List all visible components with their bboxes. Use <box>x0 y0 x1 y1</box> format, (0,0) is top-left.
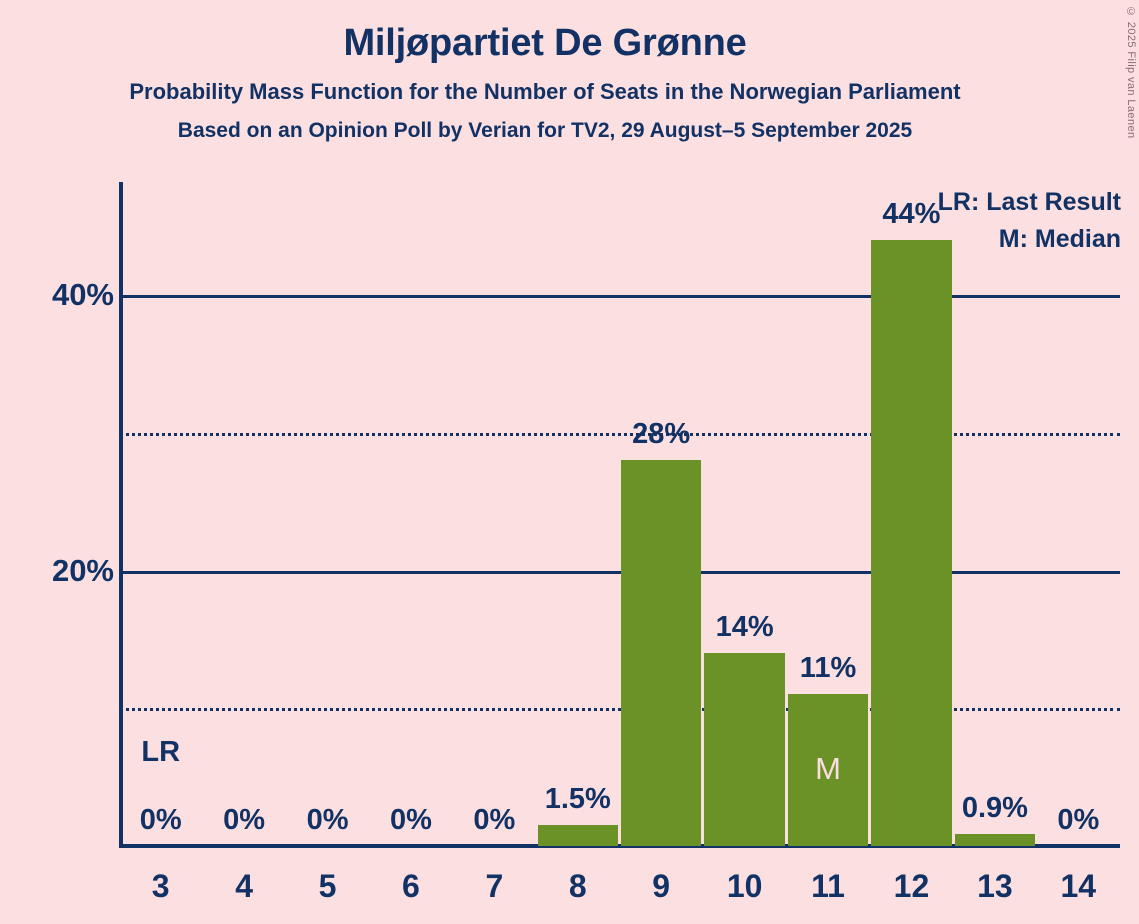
bar-value-label-4: 0% <box>223 804 265 837</box>
x-axis-tick-label-14: 14 <box>1060 868 1096 905</box>
bar-seat-13[interactable] <box>955 834 1035 846</box>
x-axis-tick-label-3: 3 <box>152 868 170 905</box>
x-axis-tick-label-9: 9 <box>652 868 670 905</box>
bar-value-label-5: 0% <box>307 804 349 837</box>
bar-seat-9[interactable] <box>621 460 701 846</box>
bar-seat-10[interactable] <box>704 653 784 846</box>
gridline-20 <box>119 571 1120 574</box>
chart-container: Miljøpartiet De Grønne Probability Mass … <box>0 0 1139 924</box>
x-axis-tick-label-12: 12 <box>894 868 930 905</box>
bar-value-label-13: 0.9% <box>962 792 1028 825</box>
x-axis-tick-label-7: 7 <box>485 868 503 905</box>
y-axis-tick-label: 40% <box>52 277 114 313</box>
x-axis-tick-label-4: 4 <box>235 868 253 905</box>
x-axis-tick-label-8: 8 <box>569 868 587 905</box>
bar-seat-12[interactable] <box>871 240 951 846</box>
plot-area <box>119 182 1120 846</box>
page-title: Miljøpartiet De Grønne <box>0 24 1090 64</box>
bar-value-label-3: 0% <box>140 804 182 837</box>
bar-value-label-14: 0% <box>1057 804 1099 837</box>
copyright-notice: © 2025 Filip van Laenen <box>1125 6 1137 139</box>
bar-value-label-11: 11% <box>800 652 856 685</box>
x-axis-tick-label-13: 13 <box>977 868 1013 905</box>
gridline-30 <box>119 433 1120 436</box>
bar-seat-8[interactable] <box>538 825 618 846</box>
x-axis-tick-label-11: 11 <box>811 868 845 905</box>
bar-value-label-12: 44% <box>882 198 940 231</box>
bar-value-label-8: 1.5% <box>545 783 611 816</box>
x-axis-tick-label-5: 5 <box>319 868 337 905</box>
bar-value-label-9: 28% <box>632 418 690 451</box>
gridline-10 <box>119 708 1120 711</box>
chart-source-line: Based on an Opinion Poll by Verian for T… <box>0 120 1090 142</box>
last-result-marker: LR <box>141 736 180 769</box>
bar-value-label-6: 0% <box>390 804 432 837</box>
x-axis-tick-label-6: 6 <box>402 868 420 905</box>
x-axis-tick-label-10: 10 <box>727 868 763 905</box>
chart-subtitle: Probability Mass Function for the Number… <box>0 80 1090 103</box>
y-axis-tick-label: 20% <box>52 553 114 589</box>
gridline-40 <box>119 295 1120 298</box>
median-marker: M <box>815 751 841 787</box>
title-block: Miljøpartiet De Grønne Probability Mass … <box>0 0 1090 142</box>
bar-value-label-7: 0% <box>473 804 515 837</box>
bar-value-label-10: 14% <box>716 611 774 644</box>
